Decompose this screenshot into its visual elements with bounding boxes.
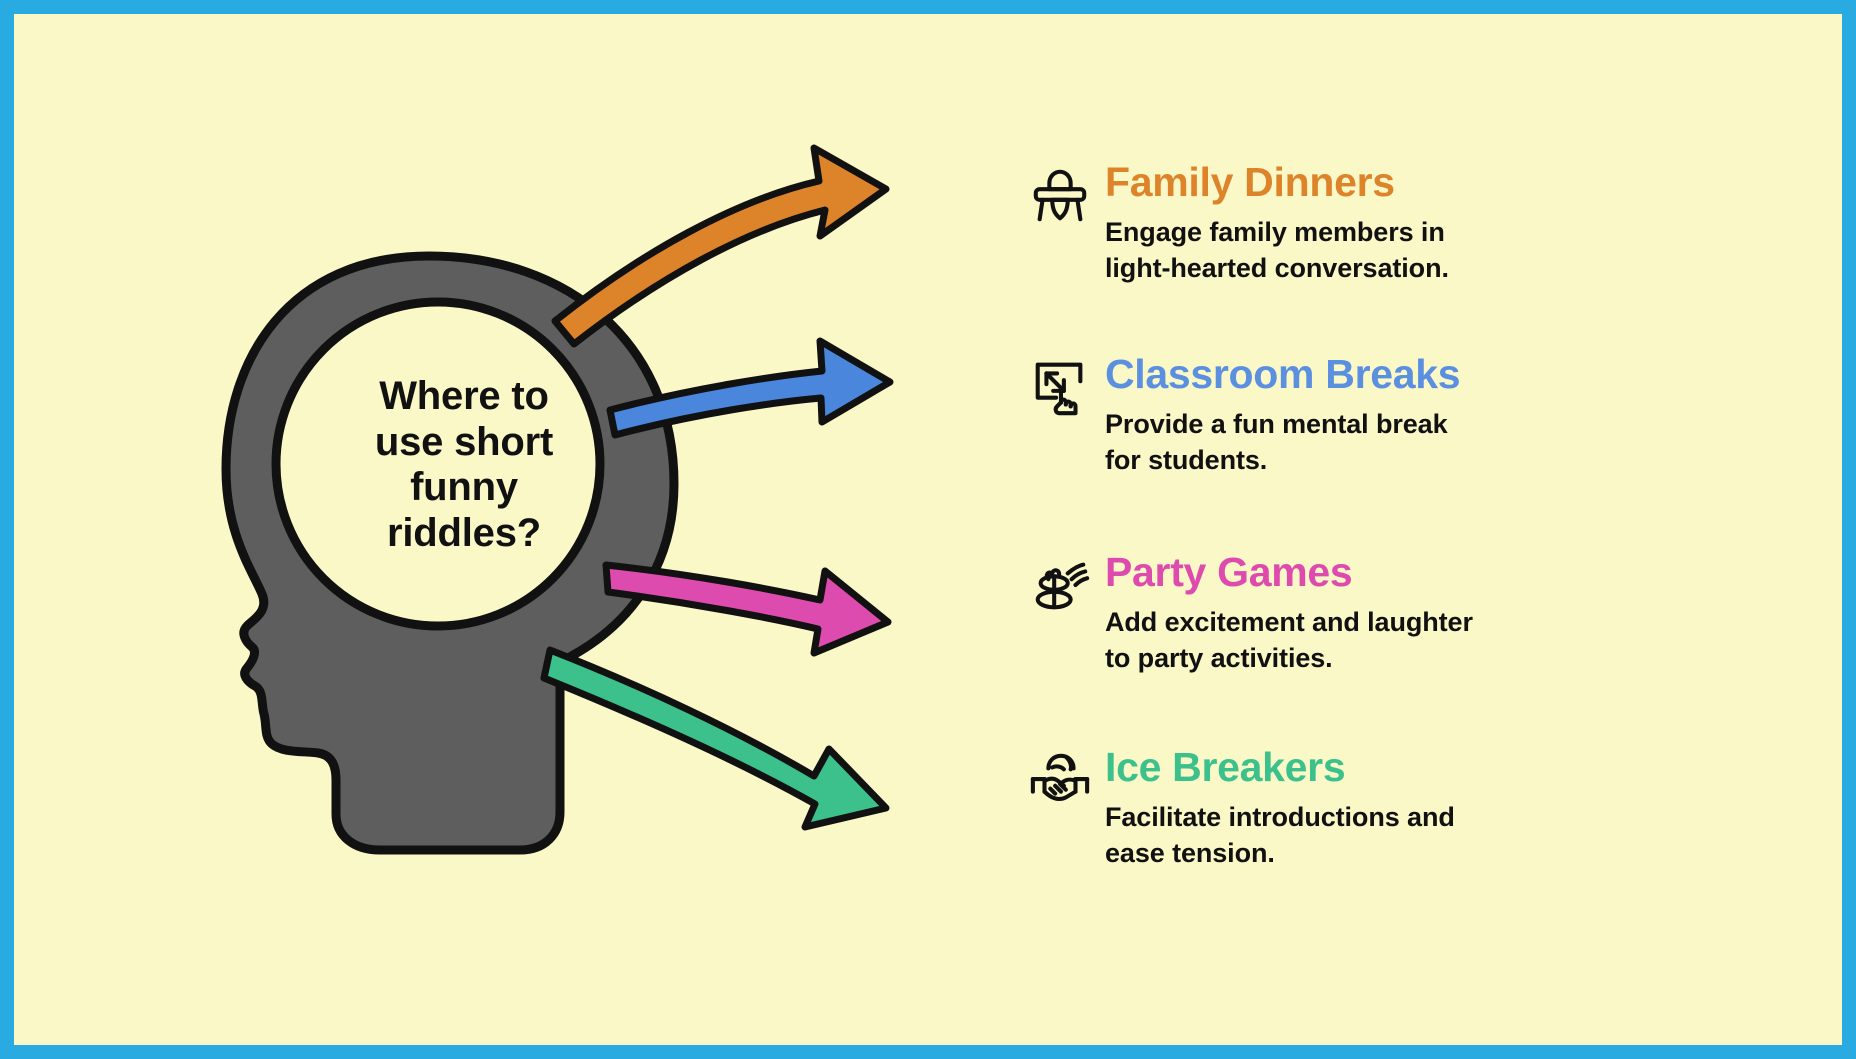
desc-line-1: Facilitate introductions and (1105, 802, 1455, 832)
branch-party-games: Party Games Add excitement and laughter … (1029, 552, 1473, 676)
infographic-stage: Where to use short funny riddles? (14, 14, 1842, 1045)
branch-title-family-dinners: Family Dinners (1105, 162, 1449, 203)
desc-line-2: light-hearted conversation. (1105, 253, 1449, 283)
branch-desc-classroom-breaks: Provide a fun mental break for students. (1105, 407, 1460, 478)
desc-line-1: Provide a fun mental break (1105, 409, 1448, 439)
resize-cursor-icon (1029, 356, 1091, 418)
branch-ice-breakers: Ice Breakers Facilitate introductions an… (1029, 747, 1455, 871)
branch-body: Ice Breakers Facilitate introductions an… (1105, 747, 1455, 871)
branch-body: Classroom Breaks Provide a fun mental br… (1105, 354, 1460, 478)
handshake-icon (1029, 749, 1091, 811)
desc-line-2: ease tension. (1105, 838, 1275, 868)
branch-list: Family Dinners Engage family members in … (14, 14, 1842, 1045)
branch-desc-family-dinners: Engage family members in light-hearted c… (1105, 215, 1449, 286)
desc-line-2: for students. (1105, 445, 1267, 475)
branch-title-classroom-breaks: Classroom Breaks (1105, 354, 1460, 395)
branch-title-party-games: Party Games (1105, 552, 1473, 593)
branch-title-ice-breakers: Ice Breakers (1105, 747, 1455, 788)
desc-line-1: Engage family members in (1105, 217, 1445, 247)
high-chair-icon (1029, 164, 1091, 226)
branch-classroom-breaks: Classroom Breaks Provide a fun mental br… (1029, 354, 1460, 478)
branch-desc-party-games: Add excitement and laughter to party act… (1105, 605, 1473, 676)
infographic-canvas: Where to use short funny riddles? (0, 0, 1856, 1059)
desc-line-2: to party activities. (1105, 643, 1333, 673)
branch-desc-ice-breakers: Facilitate introductions and ease tensio… (1105, 800, 1455, 871)
branch-body: Family Dinners Engage family members in … (1105, 162, 1449, 286)
branch-body: Party Games Add excitement and laughter … (1105, 552, 1473, 676)
desc-line-1: Add excitement and laughter (1105, 607, 1473, 637)
branch-family-dinners: Family Dinners Engage family members in … (1029, 162, 1449, 286)
spinning-top-icon (1029, 554, 1091, 616)
